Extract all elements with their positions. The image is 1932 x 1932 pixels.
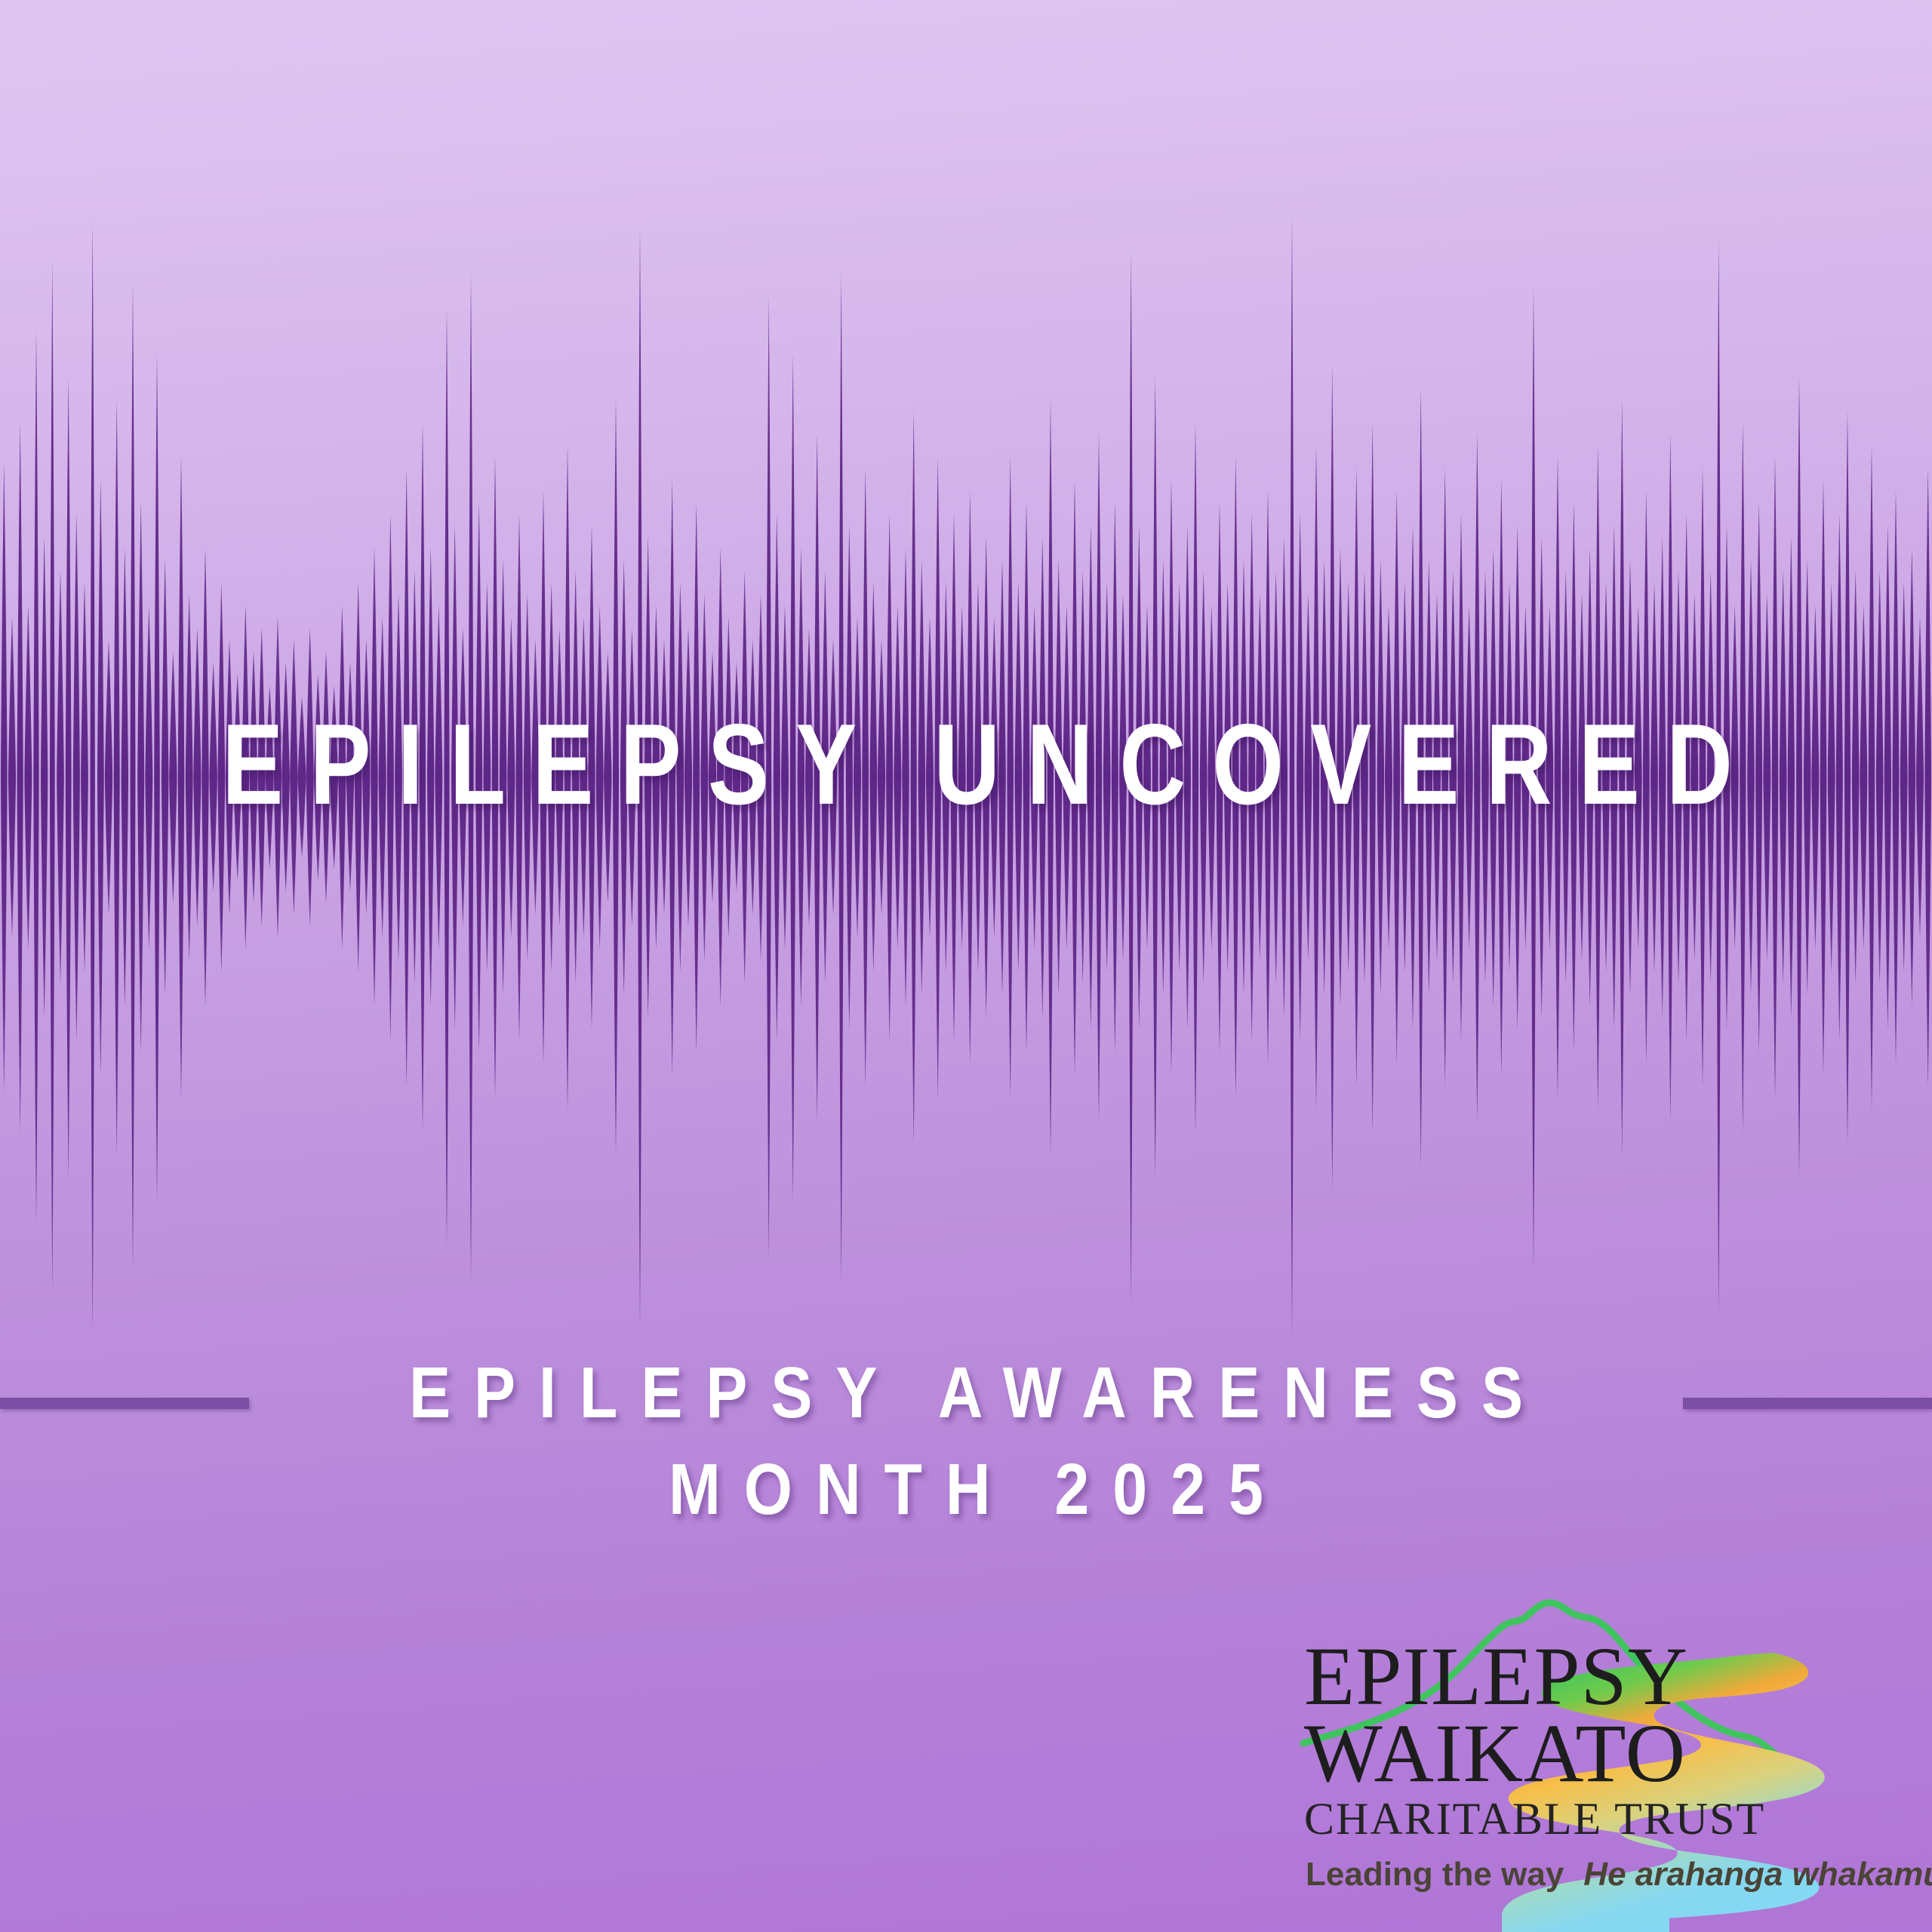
waveform-spike (1103, 583, 1111, 973)
waveform-spike (869, 583, 877, 973)
waveform-spike (1143, 605, 1151, 949)
waveform-spike (209, 663, 217, 892)
waveform-spike (1072, 479, 1078, 1075)
river-graphic (1502, 1653, 1825, 1932)
waveform-spike (604, 651, 611, 903)
waveform-spike (1039, 537, 1046, 1018)
waveform-spike (724, 617, 732, 938)
waveform-spike (1240, 559, 1247, 995)
waveform-spike (1893, 491, 1900, 1064)
waveform-spike (1232, 456, 1239, 1098)
waveform-spike (862, 468, 869, 1088)
waveform-spike (346, 663, 355, 892)
waveform-spike (1659, 537, 1666, 1018)
waveform-spike (362, 640, 370, 915)
waveform-spike (1409, 525, 1416, 1030)
waveform-spike (638, 226, 642, 1327)
waveform-spike (1884, 525, 1891, 1030)
waveform-spike (790, 353, 796, 1202)
waveform-spike (822, 571, 829, 983)
waveform-spike (1281, 537, 1287, 1018)
waveform-spike (1804, 559, 1811, 995)
waveform-spike (1852, 571, 1860, 983)
waveform-spike (1160, 559, 1168, 995)
waveform-spike (1860, 605, 1867, 949)
waveform-spike (483, 583, 491, 973)
waveform-spike (1450, 571, 1457, 983)
waveform-spike (588, 525, 595, 1030)
waveform-spike (1707, 571, 1715, 983)
waveform-spike (1184, 525, 1191, 1030)
waveform-spike (137, 502, 144, 1053)
waveform-spike (1490, 548, 1497, 1007)
waveform-spike (145, 605, 152, 949)
waveform-spike (298, 697, 306, 858)
waveform-spike (114, 398, 120, 1155)
waveform-spike (24, 605, 32, 949)
waveform-spike (1498, 479, 1505, 1075)
waveform-spike (33, 330, 38, 1225)
waveform-spike (1023, 502, 1030, 1053)
waveform-spike (1900, 583, 1908, 973)
waveform-spike (1176, 583, 1183, 973)
waveform-spike (1457, 513, 1464, 1041)
waveform-spike (685, 628, 692, 926)
waveform-spike (766, 296, 771, 1260)
waveform-spike (1602, 583, 1610, 973)
waveform-spike (911, 411, 917, 1145)
waveform-spike (926, 617, 934, 938)
waveform-spike (565, 445, 571, 1110)
waveform-spike (1716, 238, 1721, 1317)
waveform-spike (1297, 513, 1303, 1041)
waveform-spike (469, 272, 474, 1282)
waveform-spike (1426, 559, 1433, 995)
waveform-spike (1265, 491, 1272, 1064)
waveform-spike (1626, 559, 1634, 995)
waveform-spike (1675, 571, 1682, 983)
waveform-spike (371, 548, 377, 1007)
waveform-spike (66, 376, 72, 1179)
waveform-spike (226, 640, 233, 915)
waveform-spike (531, 640, 539, 915)
waveform-spike (934, 456, 941, 1098)
waveform-spike (1531, 284, 1537, 1270)
waveform-spike (193, 628, 201, 926)
waveform-spike (1828, 583, 1835, 973)
waveform-spike (1433, 594, 1441, 961)
waveform-spike (1207, 605, 1215, 949)
waveform-spike (444, 307, 449, 1247)
waveform-spike (1916, 617, 1924, 938)
waveform-spike (97, 479, 104, 1075)
waveform-spike (854, 617, 861, 938)
waveform-spike (1393, 491, 1400, 1064)
waveform-spike (178, 456, 185, 1098)
waveform-spike (1377, 559, 1385, 995)
waveform-spike (749, 640, 756, 915)
waveform-spike (1136, 525, 1143, 1030)
waveform-spike (17, 422, 23, 1133)
waveform-spike (1048, 398, 1054, 1155)
waveform-spike (540, 491, 547, 1064)
waveform-spike (983, 537, 989, 1018)
waveform-spike (1248, 513, 1255, 1041)
waveform-spike (1152, 376, 1158, 1179)
waveform-spike (886, 513, 893, 1041)
waveform-spike (73, 513, 80, 1041)
waveform-spike (774, 513, 780, 1041)
waveform-spike (1192, 422, 1198, 1133)
waveform-spike (451, 525, 458, 1030)
waveform-spike (652, 605, 660, 949)
waveform-spike (555, 628, 563, 926)
waveform-spike (1112, 502, 1118, 1053)
waveform-spike (613, 398, 619, 1155)
waveform-spike (1747, 559, 1755, 995)
waveform-spike (258, 628, 266, 926)
waveform-spike (1200, 571, 1207, 983)
waveform-spike (814, 433, 820, 1121)
waveform-spike (1619, 398, 1625, 1155)
waveform-spike (1844, 411, 1850, 1145)
waveform-spike (846, 525, 853, 1030)
waveform-spike (1007, 456, 1014, 1098)
waveform-spike (1788, 537, 1795, 1018)
waveform-spike (1723, 525, 1730, 1030)
waveform-spike (676, 583, 684, 973)
waveform-spike (958, 605, 966, 949)
waveform-spike (838, 272, 844, 1282)
waveform-spike (122, 548, 128, 1007)
waveform-spike (427, 548, 434, 1007)
waveform-spike (515, 513, 522, 1041)
waveform-spike (1370, 422, 1376, 1133)
waveform-spike (492, 456, 499, 1098)
epilepsy-waikato-logo: EPILEPSY WAIKATO CHARITABLE TRUST Leadin… (1262, 1541, 1932, 1932)
waveform-spike (322, 651, 330, 903)
waveform-spike (459, 628, 466, 926)
waveform-spike (338, 605, 346, 949)
waveform-spike (1217, 502, 1223, 1053)
waveform-spike (950, 513, 957, 1041)
waveform-spike (306, 628, 314, 926)
waveform-spike (700, 594, 708, 961)
waveform-spike (1772, 456, 1779, 1098)
waveform-spike (709, 651, 716, 903)
waveform-spike (241, 605, 249, 949)
waveform-spike (1796, 376, 1802, 1179)
waveform-spike (596, 605, 604, 949)
waveform-spike (942, 583, 949, 973)
waveform-spike (1780, 571, 1787, 983)
waveform-spike (1353, 468, 1360, 1088)
waveform-spike (1909, 548, 1915, 1007)
waveform-spike (1361, 571, 1368, 983)
waveform-spike (645, 537, 651, 1018)
waveform-spike (1474, 433, 1480, 1121)
waveform-spike (420, 422, 426, 1133)
waveform-spike (798, 548, 804, 1007)
waveform-spike (918, 559, 926, 995)
waveform-spike (411, 571, 419, 983)
waveform-spike (1811, 605, 1819, 949)
waveform-spike (1571, 502, 1577, 1053)
waveform-spike (1876, 571, 1884, 983)
waveform-spike (281, 663, 290, 892)
waveform-spike (1088, 525, 1094, 1030)
waveform-spike (1063, 605, 1070, 949)
waveform-spike (1014, 583, 1022, 973)
waveform-spike (131, 284, 136, 1270)
waveform-spike (1651, 583, 1658, 973)
waveform-spike (1055, 559, 1063, 995)
waveform-spike (1763, 594, 1770, 961)
waveform-spike (314, 674, 322, 881)
waveform-spike (1224, 583, 1232, 973)
waveform-spike (1820, 479, 1827, 1075)
waveform-spike (669, 479, 675, 1075)
waveform-spike (217, 583, 225, 973)
waveform-spike (805, 628, 813, 926)
waveform-spike (1401, 583, 1408, 973)
waveform-spike (628, 628, 635, 926)
waveform-spike (1611, 525, 1617, 1030)
logo-artwork (1262, 1541, 1932, 1932)
waveform-spike (379, 617, 386, 938)
waveform-spike (1562, 571, 1570, 983)
waveform-spike (1272, 571, 1280, 983)
waveform-spike (1595, 445, 1601, 1110)
waveform-spike (1690, 594, 1698, 961)
waveform-spike (57, 571, 64, 983)
waveform-spike (1079, 571, 1087, 983)
waveform-spike (233, 674, 241, 881)
waveform-spike (1538, 537, 1545, 1018)
waveform-spike (1168, 479, 1175, 1075)
waveform-spike (1836, 513, 1843, 1041)
waveform-spike (169, 651, 177, 903)
waveform-spike (162, 559, 169, 995)
waveform-spike (1643, 491, 1650, 1064)
waveform-spike (50, 261, 55, 1294)
waveform-spike (1546, 605, 1553, 949)
waveform-spike (1, 462, 8, 1093)
waveform-spike (41, 537, 48, 1018)
waveform-spike (660, 640, 668, 915)
waveform-spike (266, 685, 274, 869)
waveform-spike (1256, 594, 1263, 961)
waveform-spike (974, 583, 982, 973)
waveform-spike (1755, 502, 1762, 1053)
poster-canvas: EPILEPSY UNCOVERED EPILEPSY AWARENESS MO… (0, 0, 1932, 1932)
waveform-spike (1506, 583, 1513, 973)
waveform-spike (154, 353, 160, 1202)
waveform-spike (330, 685, 338, 869)
waveform-spike (1031, 605, 1038, 949)
waveform-spike (1683, 513, 1690, 1041)
waveform-spike (1924, 468, 1931, 1088)
waveform-spike (1096, 433, 1102, 1121)
waveform-spike (967, 491, 974, 1064)
waveform-spike (1740, 422, 1746, 1133)
waveform-spike (878, 640, 885, 915)
waveform-spike (1635, 605, 1642, 949)
waveform-spike (902, 548, 909, 1007)
waveform-spike (572, 571, 580, 983)
waveform-spike (757, 594, 764, 961)
waveform-spike (580, 617, 587, 938)
waveform-spike (290, 640, 297, 915)
waveform-spike (1667, 433, 1673, 1121)
waveform-spike (387, 513, 394, 1041)
waveform-spike (81, 583, 88, 973)
waveform-spike (998, 559, 1006, 995)
waveform-spike (1418, 387, 1424, 1168)
waveform-spike (274, 617, 281, 938)
waveform-spike (620, 559, 628, 995)
waveform-spike (1869, 445, 1875, 1110)
waveform-spike (1441, 468, 1448, 1088)
waveform-spike (1555, 456, 1561, 1098)
waveform-spike (403, 468, 410, 1088)
waveform-spike (1329, 365, 1335, 1190)
waveform-spike (8, 617, 16, 938)
waveform-spike (1466, 605, 1473, 949)
waveform-spike (1521, 605, 1529, 949)
waveform-spike (1578, 594, 1586, 961)
waveform-spike (475, 502, 482, 1053)
waveform-spike (507, 617, 515, 938)
waveform-spike (1731, 605, 1739, 949)
waveform-spike (186, 594, 193, 961)
waveform-spike (435, 605, 442, 949)
waveform-spike (250, 651, 257, 903)
waveform-spike (90, 221, 94, 1334)
waveform-spike (1385, 605, 1392, 949)
waveform-spike (733, 663, 741, 892)
waveform-spike (355, 583, 362, 973)
waveform-spike (1290, 215, 1294, 1340)
waveform-spike (1514, 525, 1521, 1030)
waveform-spike (894, 605, 901, 949)
waveform-spike (1304, 594, 1312, 961)
waveform-spike (500, 559, 507, 995)
waveform-spike (1337, 548, 1343, 1007)
waveform-spike (781, 605, 789, 949)
waveform-spike (202, 548, 208, 1007)
waveform-spike (829, 640, 837, 915)
waveform-spike (1700, 468, 1706, 1088)
waveform-spike (105, 640, 112, 915)
waveform-spike (1321, 559, 1328, 995)
waveform-spike (1586, 548, 1593, 1007)
waveform-spike (548, 583, 555, 973)
waveform-spike (693, 502, 700, 1053)
waveform-spike (741, 571, 749, 983)
waveform-spike (395, 594, 402, 961)
waveform-spike (1345, 583, 1352, 973)
waveform-spike (990, 617, 998, 938)
waveform-spike (1481, 571, 1489, 983)
waveform-spike (1313, 445, 1319, 1110)
waveform-spike (1128, 250, 1134, 1305)
waveform-spike (717, 548, 724, 1007)
waveform-spike (524, 594, 531, 961)
waveform-spike (1119, 594, 1127, 961)
